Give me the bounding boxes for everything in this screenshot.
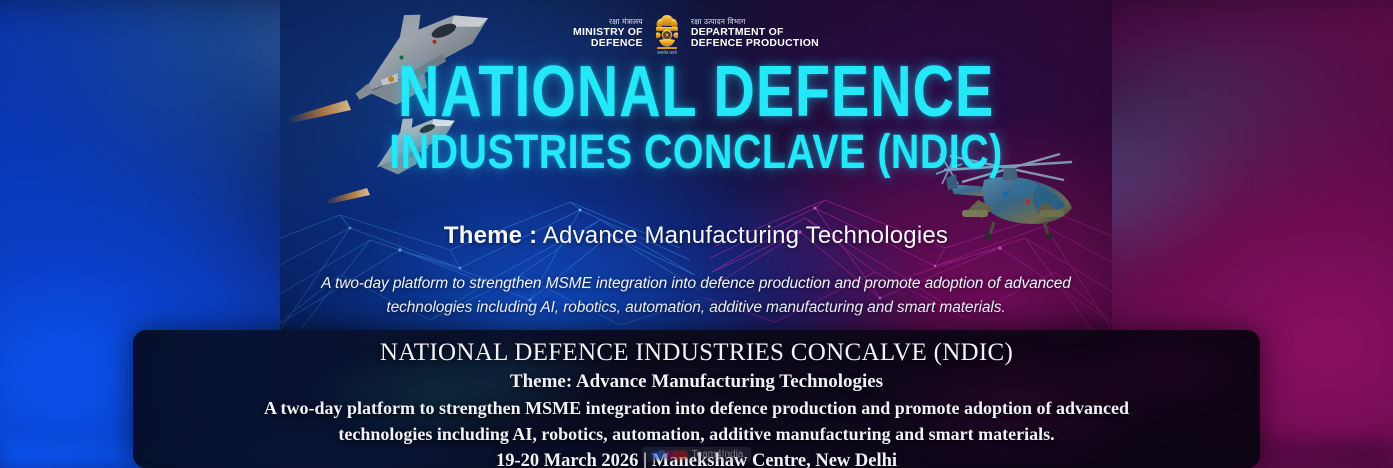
overlay-description-line-2: technologies including AI, robotics, aut… <box>133 423 1260 447</box>
overlay-info-panel: NATIONAL DEFENCE INDUSTRIES CONCALVE (ND… <box>133 330 1260 468</box>
ashoka-emblem-icon: सत्यमेव जयते <box>652 13 682 55</box>
headline-line-2: INDUSTRIES CONCLAVE (NDIC) <box>355 129 1037 177</box>
department-of-defence-production-block: रक्षा उत्पादन विभाग DEPARTMENT OF DEFENC… <box>691 18 819 50</box>
watermark-dots-icon <box>650 450 688 460</box>
watermark-text: Team4India <box>692 449 744 460</box>
headline-line-1: NATIONAL DEFENCE <box>363 58 1029 127</box>
banner-description-line-1: A two-day platform to strengthen MSME in… <box>320 272 1072 296</box>
overlay-title: NATIONAL DEFENCE INDUSTRIES CONCALVE (ND… <box>133 337 1260 368</box>
banner-theme-label: Theme : <box>444 222 537 249</box>
department-en-line2: DEFENCE PRODUCTION <box>691 38 819 50</box>
ndic-banner-screenshot: रक्षा मंत्रालय MINISTRY OF DEFENCE <box>0 0 1393 468</box>
ministry-en-line2: DEFENCE <box>573 38 643 50</box>
event-banner-image: रक्षा मंत्रालय MINISTRY OF DEFENCE <box>280 0 1112 330</box>
overlay-theme: Theme: Advance Manufacturing Technologie… <box>133 369 1260 395</box>
banner-description-line-2: technologies including AI, robotics, aut… <box>320 296 1072 320</box>
event-headline: NATIONAL DEFENCE INDUSTRIES CONCLAVE (ND… <box>280 58 1112 177</box>
banner-theme-value: Advance Manufacturing Technologies <box>543 222 948 249</box>
ministry-of-defence-block: रक्षा मंत्रालय MINISTRY OF DEFENCE <box>573 18 643 50</box>
banner-description: A two-day platform to strengthen MSME in… <box>320 272 1072 320</box>
overlay-description-line-1: A two-day platform to strengthen MSME in… <box>133 397 1260 421</box>
banner-theme-line: Theme : Advance Manufacturing Technologi… <box>280 222 1112 250</box>
ministry-lockup: रक्षा मंत्रालय MINISTRY OF DEFENCE <box>280 13 1112 55</box>
watermark: Team4India <box>642 447 752 462</box>
